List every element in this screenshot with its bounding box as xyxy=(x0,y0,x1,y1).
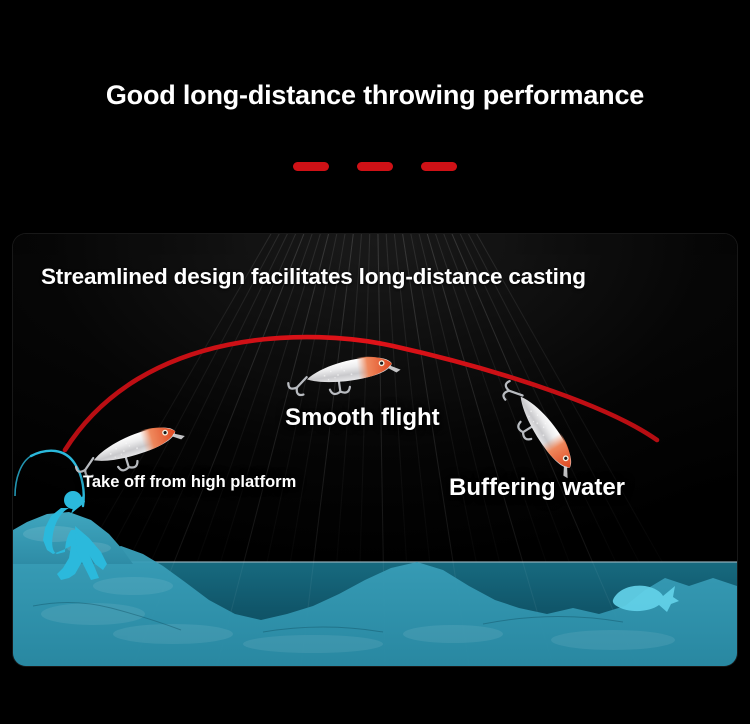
page-title: Good long-distance throwing performance xyxy=(0,80,750,111)
casting-scene: Smooth flight Take off from high platfor… xyxy=(13,234,737,666)
scene-artwork xyxy=(13,234,737,666)
divider-dash xyxy=(357,162,393,171)
fishing-lure-icon xyxy=(286,352,403,400)
promo-graphic-root: Good long-distance throwing performance xyxy=(0,0,750,724)
label-smooth-flight: Smooth flight xyxy=(285,404,440,432)
label-buffering-water: Buffering water xyxy=(449,474,625,502)
divider-dash xyxy=(421,162,457,171)
divider-dash xyxy=(293,162,329,171)
illustration-panel: Streamlined design facilitates long-dist… xyxy=(13,234,737,666)
divider-dashes xyxy=(0,162,750,171)
fishing-lure-icon xyxy=(495,373,583,487)
label-take-off: Take off from high platform xyxy=(83,473,296,492)
